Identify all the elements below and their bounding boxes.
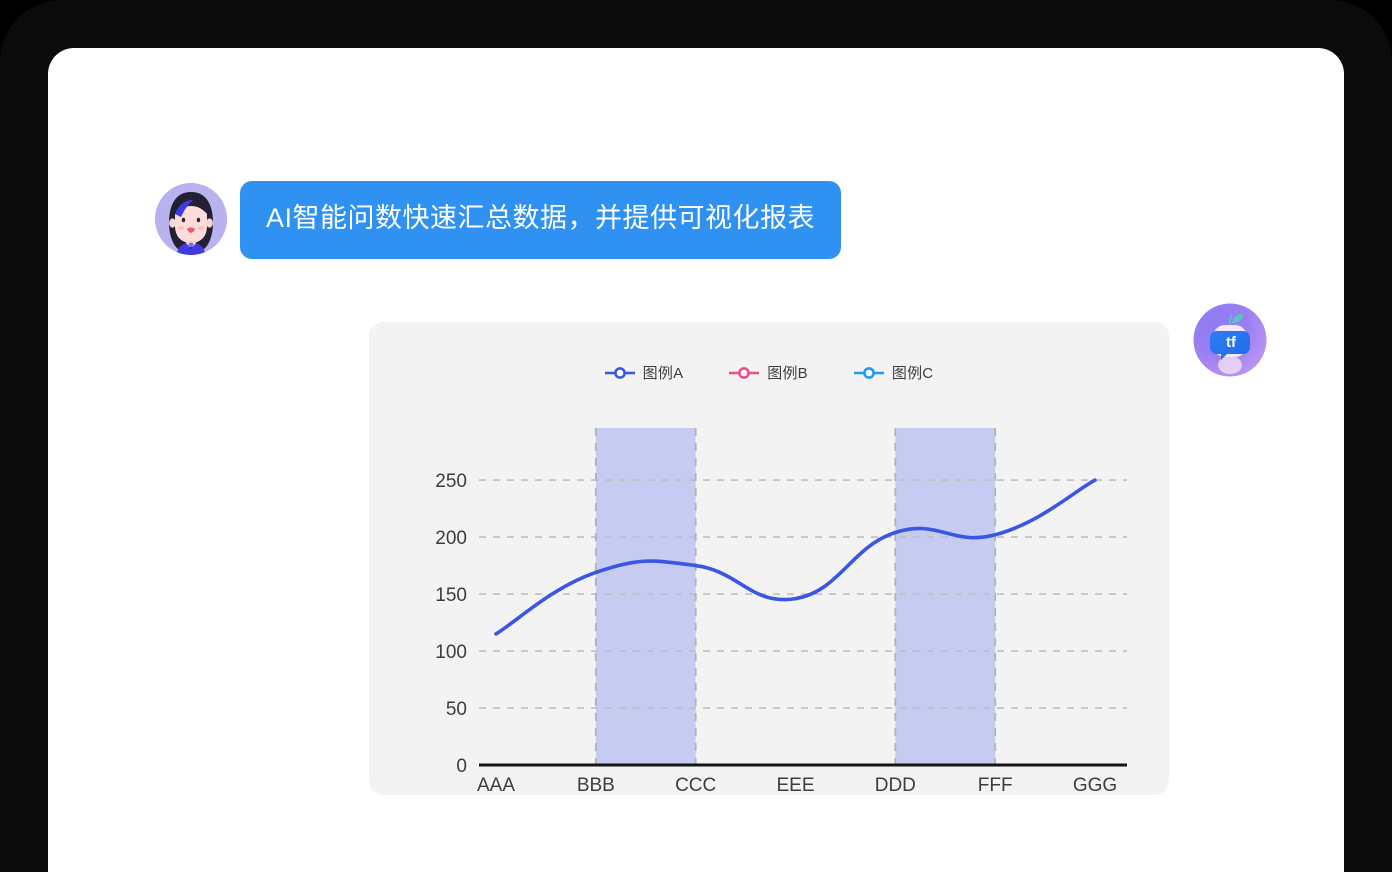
avatar-illustration (155, 183, 227, 255)
badge-label: tf (1226, 334, 1237, 351)
y-tick-label: 250 (435, 471, 467, 492)
assistant-badge-button[interactable]: tf (1193, 303, 1267, 377)
y-tick-label: 50 (446, 699, 467, 720)
chat-message-row: AI智能问数快速汇总数据，并提供可视化报表 (155, 181, 841, 259)
x-tick-label: FFF (978, 775, 1013, 795)
x-tick-label: EEE (776, 775, 814, 795)
user-avatar (155, 183, 227, 255)
y-axis-tick-labels: 050100150200250 (435, 471, 467, 777)
chart-card: 图例A 图例B 图例C (369, 322, 1169, 795)
x-tick-label: CCC (675, 775, 716, 795)
x-tick-label: BBB (577, 775, 615, 795)
x-axis-tick-labels: AAABBBCCCEEEDDDFFFGGG (477, 775, 1117, 795)
series-line-a (496, 480, 1095, 634)
y-tick-label: 150 (435, 585, 467, 606)
robot-chat-icon: tf (1193, 303, 1267, 377)
y-tick-label: 0 (456, 756, 467, 777)
horizontal-gridlines (479, 480, 1127, 708)
line-chart-plot[interactable]: 050100150200250 AAABBBCCCEEEDDDFFFGGG (369, 322, 1169, 795)
x-tick-label: DDD (875, 775, 916, 795)
y-tick-label: 100 (435, 642, 467, 663)
window-frame: AI智能问数快速汇总数据，并提供可视化报表 图例A 图例B (0, 0, 1392, 872)
y-tick-label: 200 (435, 528, 467, 549)
x-tick-label: GGG (1073, 775, 1117, 795)
chat-bubble: AI智能问数快速汇总数据，并提供可视化报表 (240, 181, 841, 259)
x-tick-label: AAA (477, 775, 515, 795)
highlight-band (895, 428, 995, 765)
highlight-band (596, 428, 696, 765)
highlight-bands (596, 428, 995, 765)
app-card: AI智能问数快速汇总数据，并提供可视化报表 图例A 图例B (48, 48, 1344, 872)
